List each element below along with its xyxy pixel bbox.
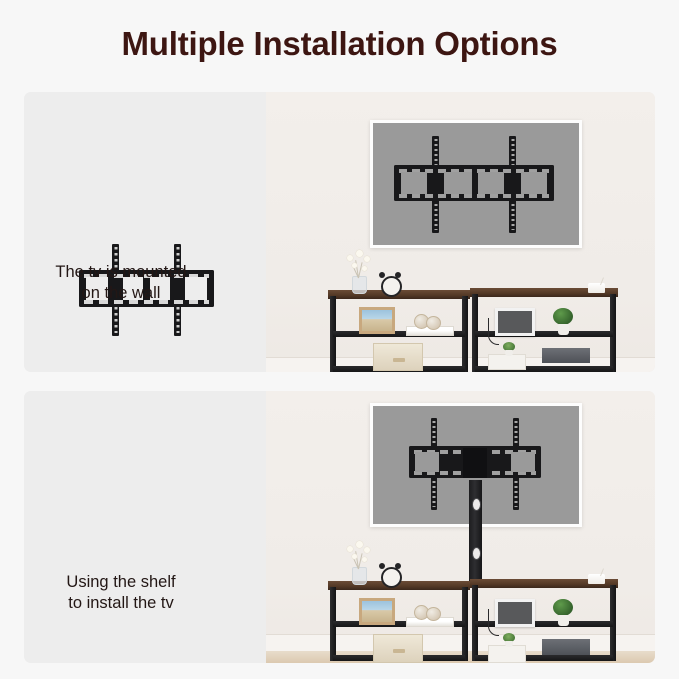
lamp-shade [588, 574, 605, 584]
caption-line: on the wall [0, 283, 242, 304]
stand-pole-lower [469, 521, 482, 581]
bracket-rail-window [511, 452, 535, 472]
beach-photo-frame [359, 307, 395, 334]
plant-pot [558, 324, 569, 335]
bracket-rail-window [521, 172, 547, 194]
bracket-rail-slots-bottom [399, 194, 549, 198]
pole-cable-hole [472, 547, 481, 560]
caption-line: to install the tv [0, 593, 242, 614]
flower-bloom [362, 266, 367, 271]
pole-cable-hole [472, 498, 481, 511]
bracket-center-hub [463, 448, 487, 478]
potted-plant [552, 308, 574, 336]
installation-option-panel-shelf [24, 391, 655, 663]
flower-bloom [364, 547, 370, 553]
succulent-pot [505, 641, 513, 647]
clock-face [381, 567, 402, 588]
flower-bloom [352, 263, 357, 268]
bracket-rail-window [478, 172, 504, 194]
power-cable [488, 318, 499, 345]
small-monitor [495, 308, 535, 336]
flower-bloom [364, 256, 370, 262]
small-succulent [501, 342, 517, 356]
caption-shelf-mount: Using the shelf to install the tv [0, 572, 242, 614]
plant-pot [558, 615, 569, 626]
installation-option-panel-wall [24, 92, 655, 372]
flower-bloom [356, 250, 363, 257]
room-photo-wall-mount [266, 92, 655, 372]
gray-storage-box [542, 348, 590, 363]
lamp-shade [588, 283, 605, 293]
beige-storage-box [373, 634, 423, 663]
tv-screen [370, 403, 582, 527]
flower-bloom [352, 554, 357, 559]
succulent-pot [505, 350, 513, 356]
beach-photo-frame [359, 598, 395, 625]
gray-storage-box [542, 639, 590, 655]
alarm-clock [378, 272, 402, 293]
potted-plant [552, 599, 574, 627]
power-cable [488, 609, 499, 636]
page-title: Multiple Installation Options [0, 25, 679, 63]
beach-photo-image [362, 601, 392, 622]
decor-roll [426, 607, 441, 621]
flower-bloom [356, 541, 363, 548]
beach-photo-image [362, 310, 392, 331]
glass-vase-with-flowers [342, 537, 376, 583]
stand-pole-upper [469, 480, 482, 526]
bracket-rail-window [444, 172, 472, 194]
plant-foliage [553, 599, 573, 616]
clock-face [381, 276, 402, 297]
white-tray [488, 354, 526, 370]
room-photo-shelf-mount [266, 391, 655, 663]
flower-bloom [347, 546, 353, 552]
small-succulent [501, 633, 517, 647]
vase-glass [352, 276, 367, 294]
white-tray [488, 645, 526, 663]
caption-line: The tv is mounted [0, 262, 242, 283]
clock-bell-left [379, 563, 385, 569]
alarm-clock [378, 563, 402, 584]
beige-storage-box [373, 343, 423, 371]
bracket-rail-window [401, 172, 427, 194]
clock-bell-left [379, 272, 385, 278]
diagram-area-shelf [24, 391, 266, 663]
box-handle [393, 649, 405, 653]
caption-line: Using the shelf [0, 572, 242, 593]
bracket-rail-window [415, 452, 439, 472]
decor-roll [426, 316, 441, 330]
vase-glass [352, 567, 367, 585]
flower-bloom [362, 557, 367, 562]
caption-wall-mount: The tv is mounted on the wall [0, 262, 242, 304]
table-lamp [584, 277, 610, 293]
diagram-area-wall [24, 92, 266, 372]
tv-mount-bracket-overlay [394, 136, 554, 233]
glass-vase-with-flowers [342, 246, 376, 292]
plant-foliage [553, 308, 573, 325]
tv-screen [370, 120, 582, 248]
box-handle [393, 358, 405, 362]
small-monitor [495, 599, 535, 627]
table-lamp [584, 568, 610, 584]
flower-bloom [347, 255, 353, 261]
